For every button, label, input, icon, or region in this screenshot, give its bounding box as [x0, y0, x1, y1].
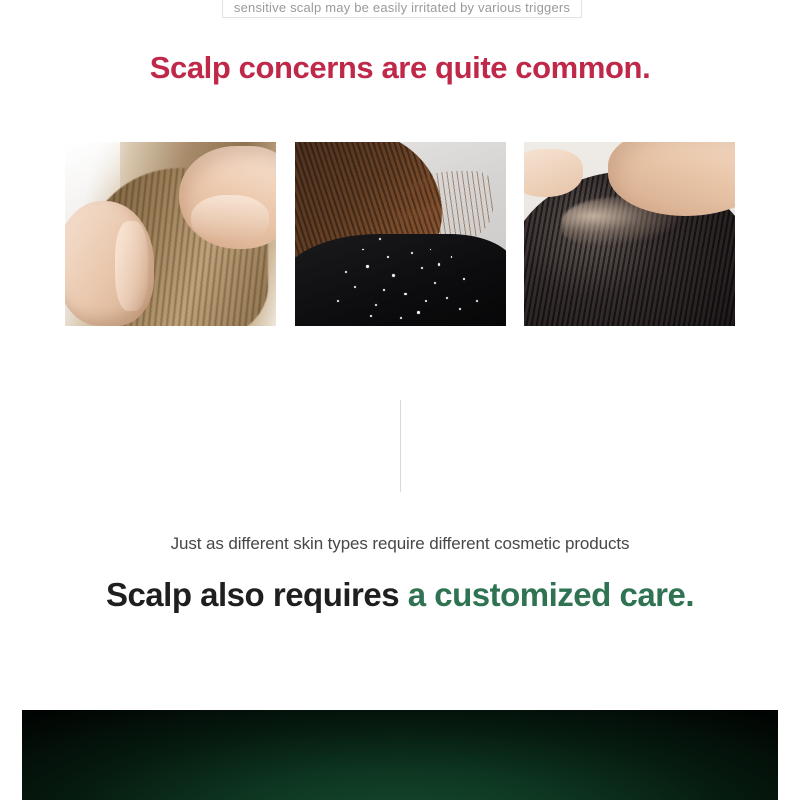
photo-dandruff-flakes [295, 142, 506, 326]
dandruff-flake [375, 304, 377, 306]
dark-green-banner [22, 710, 778, 800]
photo-thinning-hair [524, 142, 735, 326]
headline-large-lead: Scalp also requires [106, 576, 408, 613]
cut-off-info-panel: sensitive scalp may be easily irritated … [222, 0, 582, 18]
dandruff-flake [345, 271, 347, 273]
dandruff-flake [366, 265, 368, 267]
product-detail-page: sensitive scalp may be easily irritated … [0, 0, 800, 800]
supporting-copy: Just as different skin types require dif… [0, 534, 800, 554]
vertical-divider [400, 400, 401, 492]
dandruff-flake [387, 256, 389, 258]
headline-large-accent: a customized care. [408, 576, 694, 613]
dandruff-flake [417, 311, 420, 314]
dandruff-flake [404, 293, 406, 295]
dandruff-flake [451, 256, 453, 258]
section-headline-red: Scalp concerns are quite common. [0, 50, 800, 86]
section-headline-large: Scalp also requires a customized care. [0, 576, 800, 614]
photo1-left-hand [65, 201, 154, 326]
scalp-concern-photo-row [65, 142, 735, 326]
photo-scratching-scalp [65, 142, 276, 326]
dandruff-flake [438, 263, 440, 265]
dandruff-flake [383, 289, 385, 291]
photo2-black-shoulder [295, 234, 506, 326]
dandruff-flake [400, 317, 402, 319]
cut-off-info-panel-text: sensitive scalp may be easily irritated … [223, 0, 581, 15]
